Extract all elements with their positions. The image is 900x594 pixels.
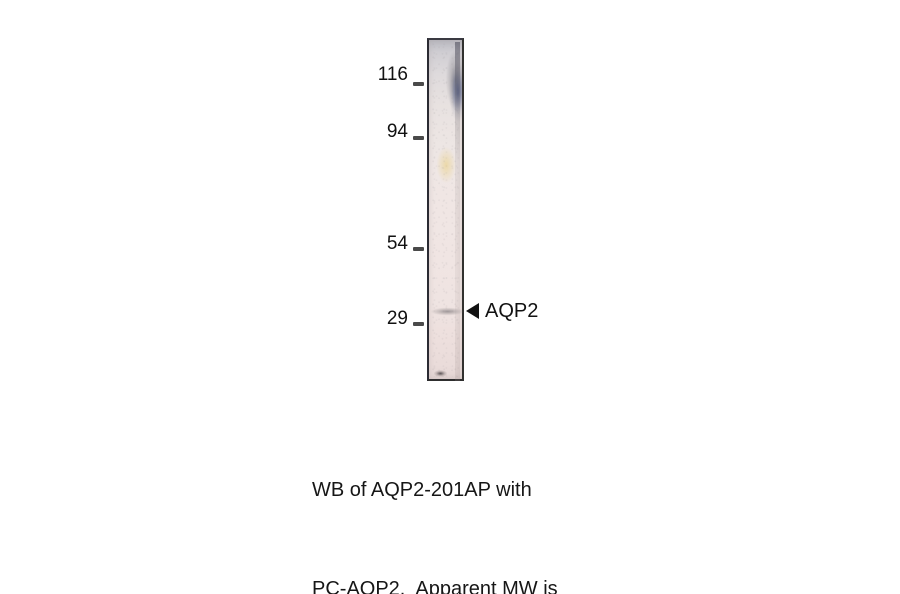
mw-tick-54 (413, 247, 424, 251)
western-blot-figure: 116 94 54 29 AQP2 WB of AQP2-201AP with … (0, 0, 900, 594)
left-triangle-arrow-icon (466, 303, 479, 319)
mw-label-94: 94 (366, 122, 408, 141)
caption-line-1: WB of AQP2-201AP with (312, 474, 642, 507)
dye-front-spot (434, 370, 447, 377)
caption-line-2: PC-AQP2. Apparent MW is (312, 573, 642, 594)
figure-caption: WB of AQP2-201AP with PC-AQP2. Apparent … (312, 408, 642, 594)
aqp2-protein-band (431, 307, 464, 316)
blot-lane-container (427, 38, 464, 381)
band-label-aqp2: AQP2 (485, 301, 538, 321)
mw-label-29: 29 (366, 309, 408, 328)
mw-tick-94 (413, 136, 424, 140)
lane-edge-streak (455, 42, 460, 381)
mw-tick-116 (413, 82, 424, 86)
membrane-texture (431, 42, 460, 377)
mw-tick-29 (413, 322, 424, 326)
mw-label-54: 54 (366, 234, 408, 253)
mw-label-116: 116 (366, 65, 408, 84)
blot-membrane-lane (427, 38, 464, 381)
